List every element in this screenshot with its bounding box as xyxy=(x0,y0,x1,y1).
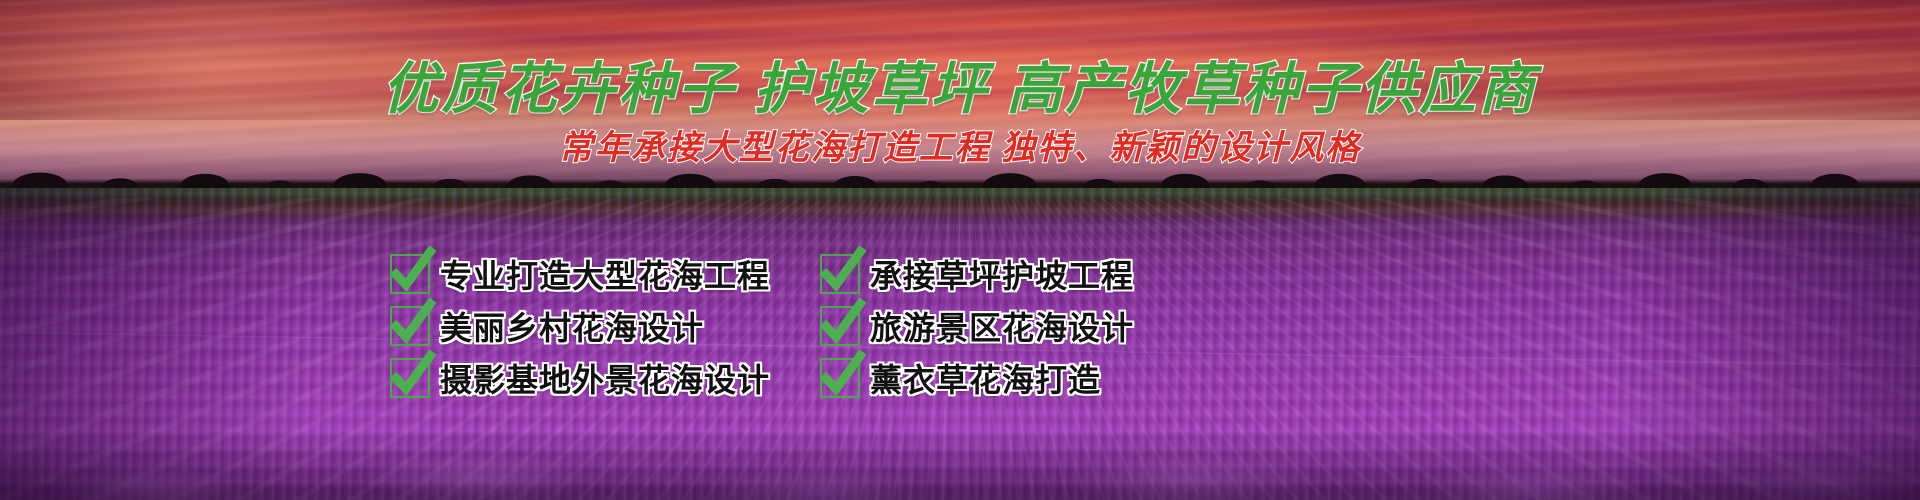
feature-item: 薰衣草花海打造 xyxy=(820,352,1150,404)
feature-label: 专业打造大型花海工程 xyxy=(440,251,770,297)
feature-label: 摄影基地外景花海设计 xyxy=(440,355,770,401)
feature-label: 承接草坪护坡工程 xyxy=(870,251,1134,297)
checkbox-check-icon xyxy=(390,254,430,294)
checkbox-check-icon xyxy=(820,358,860,398)
feature-item: 承接草坪护坡工程 xyxy=(820,248,1150,300)
feature-item: 专业打造大型花海工程 xyxy=(390,248,820,300)
checkbox-check-icon xyxy=(820,254,860,294)
checkbox-check-icon xyxy=(390,358,430,398)
hero-banner: 优质花卉种子 护坡草坪 高产牧草种子供应商 常年承接大型花海打造工程 独特、新颖… xyxy=(0,0,1920,500)
banner-headline: 优质花卉种子 护坡草坪 高产牧草种子供应商 xyxy=(0,44,1920,125)
checkbox-check-icon xyxy=(820,306,860,346)
feature-item: 旅游景区花海设计 xyxy=(820,300,1150,352)
feature-label: 美丽乡村花海设计 xyxy=(440,303,704,349)
feature-label: 薰衣草花海打造 xyxy=(870,355,1101,401)
checkbox-check-icon xyxy=(390,306,430,346)
feature-list: 专业打造大型花海工程 承接草坪护坡工程 美丽乡村花海设计 xyxy=(390,248,1150,404)
banner-subheadline: 常年承接大型花海打造工程 独特、新颖的设计风格 xyxy=(0,120,1920,169)
feature-item: 美丽乡村花海设计 xyxy=(390,300,820,352)
feature-item: 摄影基地外景花海设计 xyxy=(390,352,820,404)
feature-label: 旅游景区花海设计 xyxy=(870,303,1134,349)
